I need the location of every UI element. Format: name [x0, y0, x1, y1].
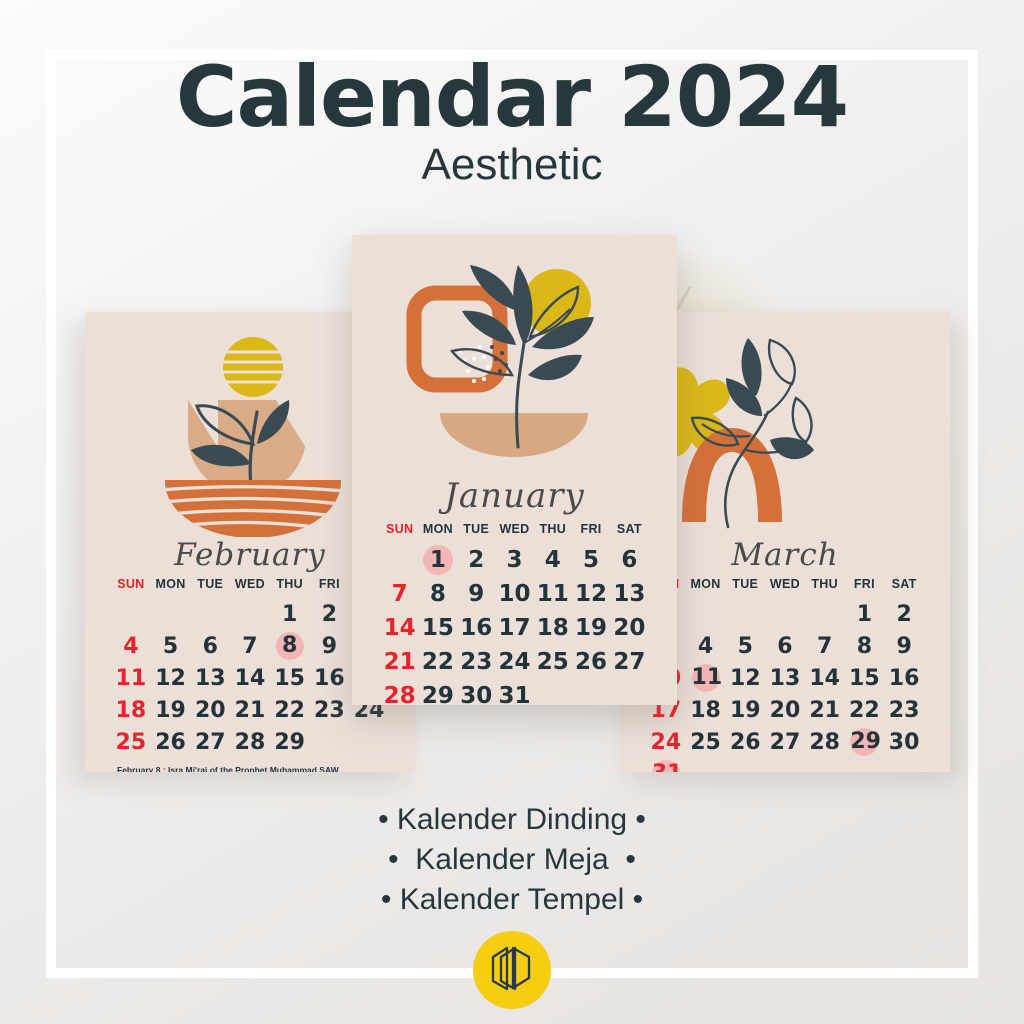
day-cell-empty	[725, 598, 765, 630]
day-number: 6	[203, 636, 218, 658]
day-cell-5[interactable]: 5	[725, 630, 765, 662]
day-cell-18[interactable]: 18	[534, 611, 572, 645]
day-cell-19[interactable]: 19	[572, 611, 610, 645]
day-cell-15[interactable]: 15	[270, 662, 310, 694]
calendar-table-january[interactable]: SUN MON TUE WED THU FRI SAT 123456789101…	[381, 522, 649, 705]
day-number: 5	[583, 549, 599, 572]
day-cell-empty	[381, 543, 419, 577]
day-highlight: 31	[652, 760, 680, 772]
day-cell-18[interactable]: 18	[111, 694, 151, 726]
page-subtitle: Aesthetic	[0, 140, 1024, 190]
weekday-wed: WED	[230, 577, 270, 598]
day-cell-28[interactable]: 28	[381, 679, 419, 705]
day-cell-2[interactable]: 2	[310, 598, 350, 630]
day-number: 21	[809, 700, 840, 722]
day-number: 29	[274, 732, 305, 754]
day-cell-24[interactable]: 24	[646, 726, 686, 758]
day-number: 16	[460, 617, 492, 640]
poster-canvas: Calendar 2024 Aesthetic	[0, 0, 1024, 1024]
weekday-tue: TUE	[190, 577, 230, 598]
day-cell-13[interactable]: 13	[765, 662, 805, 694]
day-number: 28	[809, 732, 840, 754]
day-cell-empty	[151, 598, 191, 630]
day-cell-19[interactable]: 19	[151, 694, 191, 726]
calendar-body-march: 1234567891011121314151617181920212223242…	[646, 598, 924, 772]
weekday-sat: SAT	[610, 522, 648, 543]
day-number: 1	[282, 604, 297, 626]
calendar-week-row: 2526272829	[111, 726, 389, 758]
day-number: 20	[613, 617, 645, 640]
day-cell-12[interactable]: 12	[151, 662, 191, 694]
day-cell-8[interactable]: 8	[270, 630, 310, 662]
day-number: 16	[314, 668, 345, 690]
day-cell-1[interactable]: 1	[270, 598, 310, 630]
day-number: 12	[155, 668, 186, 690]
day-cell-13[interactable]: 13	[610, 577, 648, 611]
weekday-header-row: SUN MON TUE WED THU FRI SAT	[111, 577, 389, 598]
weekday-thu: THU	[270, 577, 310, 598]
day-highlight: 29	[850, 728, 878, 756]
day-cell-empty	[190, 598, 230, 630]
day-number: 25	[116, 732, 147, 754]
day-number: 27	[195, 732, 226, 754]
day-number: 12	[730, 668, 761, 690]
calendar-week-row: 45678910	[111, 630, 389, 662]
day-cell-9[interactable]: 9	[310, 630, 350, 662]
day-number: 20	[195, 700, 226, 722]
day-cell-20[interactable]: 20	[765, 694, 805, 726]
day-cell-26[interactable]: 26	[151, 726, 191, 758]
calendar-table-february[interactable]: SUN MON TUE WED THU FRI SAT 123456789101…	[111, 577, 389, 758]
calendar-week-row: 10111213141516	[646, 662, 924, 694]
weekday-mon: MON	[151, 577, 191, 598]
day-number: 18	[690, 700, 721, 722]
day-cell-5[interactable]: 5	[151, 630, 191, 662]
day-cell-empty	[686, 598, 726, 630]
weekday-tue: TUE	[457, 522, 495, 543]
day-cell-6[interactable]: 6	[610, 543, 648, 577]
day-cell-20[interactable]: 20	[610, 611, 648, 645]
day-cell-29[interactable]: 29	[845, 726, 885, 758]
calendar-week-row: 12	[646, 598, 924, 630]
weekday-mon: MON	[686, 577, 726, 598]
day-cell-7[interactable]: 7	[381, 577, 419, 611]
day-number: 14	[809, 668, 840, 690]
day-cell-2[interactable]: 2	[457, 543, 495, 577]
day-number: 19	[730, 700, 761, 722]
day-number: 6	[777, 636, 792, 658]
day-number: 2	[896, 604, 911, 626]
day-cell-empty	[572, 679, 610, 705]
day-number: 1	[857, 604, 872, 626]
day-number: 14	[384, 617, 416, 640]
day-number: 18	[537, 617, 569, 640]
day-cell-30[interactable]: 30	[884, 726, 924, 758]
day-number: 22	[422, 651, 454, 674]
day-number: 22	[849, 700, 880, 722]
day-number: 13	[195, 668, 226, 690]
day-cell-21[interactable]: 21	[230, 694, 270, 726]
day-number: 4	[123, 636, 138, 658]
day-cell-28[interactable]: 28	[230, 726, 270, 758]
day-cell-13[interactable]: 13	[190, 662, 230, 694]
day-cell-22[interactable]: 22	[845, 694, 885, 726]
calendar-week-row: 3456789	[646, 630, 924, 662]
weekday-wed: WED	[765, 577, 805, 598]
day-cell-22[interactable]: 22	[419, 645, 457, 679]
day-number: 3	[506, 549, 522, 572]
day-cell-empty	[765, 758, 805, 772]
product-list-item-3: • Kalender Tempel •	[0, 880, 1024, 920]
day-number: 9	[322, 636, 337, 658]
day-cell-empty	[111, 598, 151, 630]
day-number: 25	[537, 651, 569, 674]
day-number: 15	[274, 668, 305, 690]
day-highlight: 8	[276, 632, 304, 660]
day-number: 21	[384, 651, 416, 674]
day-cell-27[interactable]: 27	[190, 726, 230, 758]
day-number: 24	[651, 732, 682, 754]
day-number: 7	[392, 583, 408, 606]
day-number: 13	[613, 583, 645, 606]
calendar-week-row: 78910111213	[381, 577, 649, 611]
day-cell-25[interactable]: 25	[111, 726, 151, 758]
day-cell-empty	[884, 758, 924, 772]
day-cell-empty	[805, 758, 845, 772]
weekday-tue: TUE	[725, 577, 765, 598]
day-number: 28	[235, 732, 266, 754]
day-cell-25[interactable]: 25	[534, 645, 572, 679]
weekday-sat: SAT	[884, 577, 924, 598]
weekday-sun: SUN	[381, 522, 419, 543]
calendar-table-march[interactable]: SUN MON TUE WED THU FRI SAT 123456789101…	[646, 577, 924, 772]
day-cell-31[interactable]: 31	[646, 758, 686, 772]
weekday-fri: FRI	[310, 577, 350, 598]
day-cell-26[interactable]: 26	[572, 645, 610, 679]
calendar-week-row: 24252627282930	[646, 726, 924, 758]
calendar-card-january[interactable]: January SUN MON TUE WED THU FRI SAT 1234…	[352, 235, 677, 705]
day-number: 6	[621, 549, 637, 572]
day-cell-3[interactable]: 3	[495, 543, 533, 577]
calendar-week-row: 123	[111, 598, 389, 630]
day-highlight: 1	[423, 545, 453, 575]
day-cell-2[interactable]: 2	[884, 598, 924, 630]
day-cell-16[interactable]: 16	[310, 662, 350, 694]
day-cell-4[interactable]: 4	[534, 543, 572, 577]
day-number: 29	[422, 685, 454, 705]
calendar-body-january: 1234567891011121314151617181920212223242…	[381, 543, 649, 705]
day-number: 10	[498, 583, 530, 606]
day-cell-11[interactable]: 11	[534, 577, 572, 611]
weekday-fri: FRI	[572, 522, 610, 543]
day-number: 20	[770, 700, 801, 722]
day-number: 19	[155, 700, 186, 722]
product-list-item-2: • Kalender Meja •	[0, 840, 1024, 880]
product-list: • Kalender Dinding • • Kalender Meja • •…	[0, 800, 1024, 920]
weekday-thu: THU	[534, 522, 572, 543]
day-cell-27[interactable]: 27	[610, 645, 648, 679]
day-cell-empty	[845, 758, 885, 772]
weekday-mon: MON	[419, 522, 457, 543]
day-number: 26	[730, 732, 761, 754]
brand-logo[interactable]	[473, 931, 551, 1009]
day-cell-11[interactable]: 11	[686, 662, 726, 694]
day-cell-6[interactable]: 6	[190, 630, 230, 662]
day-cell-1[interactable]: 1	[419, 543, 457, 577]
day-cell-23[interactable]: 23	[457, 645, 495, 679]
weekday-header-row: SUN MON TUE WED THU FRI SAT	[646, 577, 924, 598]
day-number: 7	[817, 636, 832, 658]
day-cell-26[interactable]: 26	[725, 726, 765, 758]
day-number: 27	[770, 732, 801, 754]
month-name-january: January	[352, 476, 677, 516]
day-number: 16	[889, 668, 920, 690]
day-cell-empty	[310, 726, 350, 758]
calendar-week-row: 21222324252627	[381, 645, 649, 679]
day-number: 24	[498, 651, 530, 674]
day-cell-empty	[230, 598, 270, 630]
day-cell-16[interactable]: 16	[884, 662, 924, 694]
day-number: 27	[613, 651, 645, 674]
day-cell-17[interactable]: 17	[495, 611, 533, 645]
calendar-week-row: 18192021222324	[111, 694, 389, 726]
day-number: 11	[537, 583, 569, 606]
day-cell-empty	[349, 726, 389, 758]
calendar-week-row: 28293031	[381, 679, 649, 705]
day-cell-empty	[805, 598, 845, 630]
day-cell-8[interactable]: 8	[419, 577, 457, 611]
day-cell-29[interactable]: 29	[270, 726, 310, 758]
weekday-header-row: SUN MON TUE WED THU FRI SAT	[381, 522, 649, 543]
day-cell-7[interactable]: 7	[805, 630, 845, 662]
calendar-week-row: 31	[646, 758, 924, 772]
day-cell-19[interactable]: 19	[725, 694, 765, 726]
day-number: 26	[575, 651, 607, 674]
day-number: 30	[460, 685, 492, 705]
calendar-week-row: 14151617181920	[381, 611, 649, 645]
day-number: 23	[314, 700, 345, 722]
day-number: 30	[889, 732, 920, 754]
day-number: 15	[422, 617, 454, 640]
product-list-item-1: • Kalender Dinding •	[0, 800, 1024, 840]
day-number: 11	[116, 668, 147, 690]
day-number: 8	[430, 583, 446, 606]
calendar-body-february: 1234567891011121314151617181920212223242…	[111, 598, 389, 758]
day-number: 28	[384, 685, 416, 705]
day-number: 14	[235, 668, 266, 690]
day-cell-empty	[534, 679, 572, 705]
day-number: 21	[235, 700, 266, 722]
day-cell-15[interactable]: 15	[845, 662, 885, 694]
day-cell-4[interactable]: 4	[111, 630, 151, 662]
day-cell-31[interactable]: 31	[495, 679, 533, 705]
weekday-wed: WED	[495, 522, 533, 543]
day-number: 26	[155, 732, 186, 754]
day-cell-14[interactable]: 14	[381, 611, 419, 645]
day-number: 9	[468, 583, 484, 606]
day-cell-27[interactable]: 27	[765, 726, 805, 758]
day-cell-4[interactable]: 4	[686, 630, 726, 662]
day-cell-empty	[725, 758, 765, 772]
day-number: 13	[770, 668, 801, 690]
day-cell-22[interactable]: 22	[270, 694, 310, 726]
day-number: 23	[889, 700, 920, 722]
day-cell-7[interactable]: 7	[230, 630, 270, 662]
day-number: 4	[698, 636, 713, 658]
day-cell-14[interactable]: 14	[230, 662, 270, 694]
day-number: 7	[242, 636, 257, 658]
weekday-thu: THU	[805, 577, 845, 598]
day-number: 5	[163, 636, 178, 658]
day-cell-28[interactable]: 28	[805, 726, 845, 758]
page-title: Calendar 2024	[0, 48, 1024, 146]
day-cell-30[interactable]: 30	[457, 679, 495, 705]
day-cell-23[interactable]: 23	[310, 694, 350, 726]
day-cell-18[interactable]: 18	[686, 694, 726, 726]
day-cell-empty	[610, 679, 648, 705]
day-number: 8	[857, 636, 872, 658]
day-number: 9	[896, 636, 911, 658]
day-number: 2	[322, 604, 337, 626]
day-number: 31	[498, 685, 530, 705]
day-cell-1[interactable]: 1	[845, 598, 885, 630]
day-cell-empty	[765, 598, 805, 630]
day-cell-25[interactable]: 25	[686, 726, 726, 758]
day-number: 15	[849, 668, 880, 690]
day-number: 19	[575, 617, 607, 640]
hexagon-monogram-icon	[473, 931, 551, 1009]
day-number: 25	[690, 732, 721, 754]
striped-sun-icon	[223, 337, 283, 397]
calendar-week-row: 123456	[381, 543, 649, 577]
day-cell-12[interactable]: 12	[725, 662, 765, 694]
day-cell-empty	[686, 758, 726, 772]
day-cell-11[interactable]: 11	[111, 662, 151, 694]
day-number: 2	[468, 549, 484, 572]
day-cell-20[interactable]: 20	[190, 694, 230, 726]
day-number: 17	[498, 617, 530, 640]
day-number: 12	[575, 583, 607, 606]
day-cell-29[interactable]: 29	[419, 679, 457, 705]
calendar-week-row: 17181920212223	[646, 694, 924, 726]
day-cell-8[interactable]: 8	[845, 630, 885, 662]
january-illustration	[352, 235, 677, 480]
day-cell-10[interactable]: 10	[495, 577, 533, 611]
day-number: 18	[116, 700, 147, 722]
day-cell-24[interactable]: 24	[495, 645, 533, 679]
day-cell-9[interactable]: 9	[884, 630, 924, 662]
weekday-sun: SUN	[111, 577, 151, 598]
day-highlight: 11	[692, 664, 720, 692]
day-number: 4	[545, 549, 561, 572]
day-cell-21[interactable]: 21	[805, 694, 845, 726]
day-cell-16[interactable]: 16	[457, 611, 495, 645]
day-cell-9[interactable]: 9	[457, 577, 495, 611]
day-number: 5	[738, 636, 753, 658]
day-number: 22	[274, 700, 305, 722]
weekday-fri: FRI	[845, 577, 885, 598]
day-cell-23[interactable]: 23	[884, 694, 924, 726]
day-cell-15[interactable]: 15	[419, 611, 457, 645]
day-cell-6[interactable]: 6	[765, 630, 805, 662]
day-number: 23	[460, 651, 492, 674]
notes-february: February 8 : Isra Mi'raj of the Prophet …	[117, 764, 415, 772]
day-cell-14[interactable]: 14	[805, 662, 845, 694]
day-cell-12[interactable]: 12	[572, 577, 610, 611]
note-line-1: February 8 : Isra Mi'raj of the Prophet …	[117, 764, 415, 772]
calendar-week-row: 11121314151617	[111, 662, 389, 694]
day-cell-5[interactable]: 5	[572, 543, 610, 577]
day-cell-21[interactable]: 21	[381, 645, 419, 679]
